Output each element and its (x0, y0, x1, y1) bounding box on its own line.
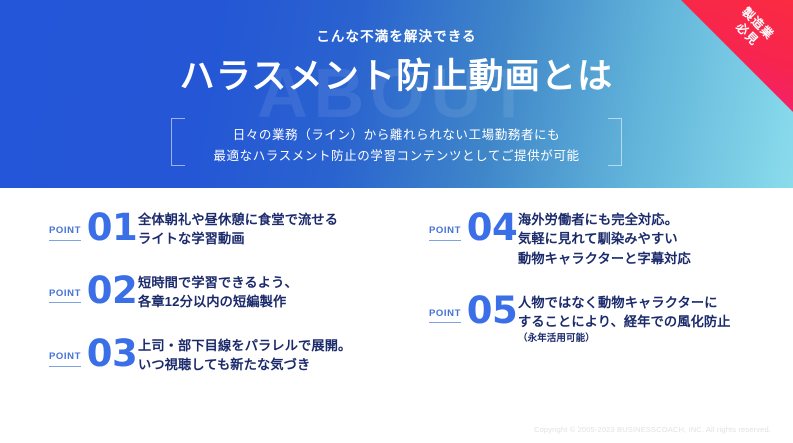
footer: Copyright © 2005-2023 BUSINESSCOACH, INC… (0, 419, 793, 437)
point-text-line: 気軽に見れて馴染みやすい (518, 229, 774, 248)
hero-subtitle-line-2: 最適なハラスメント防止の学習コンテンツとしてご提供が可能 (213, 146, 579, 168)
point-number-01: 01 (86, 207, 138, 246)
point-label-03: POINT (44, 333, 86, 367)
point-note: （永年活用可能） (518, 332, 774, 345)
hero-subtitle-line-1: 日々の業務（ライン）から離れられない工場勤務者にも (213, 125, 579, 147)
point-number-02: 02 (86, 270, 138, 309)
point-text-line: いつ視聴しても新たな気づき (138, 355, 394, 374)
point-label-text: POINT (429, 309, 461, 324)
point-label-text: POINT (429, 226, 461, 241)
point-number-04: 04 (466, 207, 518, 246)
points-column-left: POINT 01 全体朝礼や昼休憩に食堂で流せる ライトな学習動画 POINT … (44, 207, 394, 375)
point-label-01: POINT (44, 207, 86, 241)
point-label-text: POINT (49, 226, 81, 241)
page-title: ハラスメント防止動画とは (0, 57, 793, 96)
point-number-03: 03 (86, 333, 138, 372)
point-text-line: 全体朝礼や昼休憩に食堂で流せる (138, 210, 394, 229)
point-label-text: POINT (49, 352, 81, 367)
points-column-right: POINT 04 海外労働者にも完全対応。 気軽に見れて馴染みやすい 動物キャラ… (424, 207, 774, 346)
point-label-text: POINT (49, 289, 81, 304)
hero-eyebrow: こんな不満を解決できる (0, 30, 793, 44)
point-body-05: 人物ではなく動物キャラクターに することにより、経年での風化防止 （永年活用可能… (518, 290, 774, 346)
point-label-05: POINT (424, 290, 466, 324)
point-body-01: 全体朝礼や昼休憩に食堂で流せる ライトな学習動画 (138, 207, 394, 249)
point-number-05: 05 (466, 290, 518, 329)
point-text-line: 人物ではなく動物キャラクターに (518, 293, 774, 312)
point-item-05: POINT 05 人物ではなく動物キャラクターに することにより、経年での風化防… (424, 290, 774, 346)
point-body-02: 短時間で学習できるよう、 各章12分以内の短編製作 (138, 270, 394, 312)
point-label-04: POINT (424, 207, 466, 241)
point-text-line: することにより、経年での風化防止 (518, 312, 774, 331)
point-text-line: 動物キャラクターと字幕対応 (518, 249, 774, 268)
point-text-line: 各章12分以内の短編製作 (138, 292, 394, 311)
hero-banner: ABOUT こんな不満を解決できる ハラスメント防止動画とは 日々の業務（ライン… (0, 0, 793, 188)
point-text-line: ライトな学習動画 (138, 229, 394, 248)
copyright-text: Copyright © 2005-2023 BUSINESSCOACH, INC… (534, 425, 771, 434)
point-text-line: 上司・部下目線をパラレルで展開。 (138, 336, 394, 355)
point-body-03: 上司・部下目線をパラレルで展開。 いつ視聴しても新たな気づき (138, 333, 394, 375)
point-item-02: POINT 02 短時間で学習できるよう、 各章12分以内の短編製作 (44, 270, 394, 312)
points-section: POINT 01 全体朝礼や昼休憩に食堂で流せる ライトな学習動画 POINT … (0, 188, 793, 420)
point-label-02: POINT (44, 270, 86, 304)
point-body-04: 海外労働者にも完全対応。 気軽に見れて馴染みやすい 動物キャラクターと字幕対応 (518, 207, 774, 268)
hero-subtitle-frame: 日々の業務（ライン）から離れられない工場勤務者にも 最適なハラスメント防止の学習… (157, 118, 635, 173)
hero-content: こんな不満を解決できる ハラスメント防止動画とは 日々の業務（ライン）から離れら… (0, 0, 793, 173)
point-text-line: 短時間で学習できるよう、 (138, 273, 394, 292)
point-item-01: POINT 01 全体朝礼や昼休憩に食堂で流せる ライトな学習動画 (44, 207, 394, 249)
bracket-left-icon (171, 118, 185, 166)
point-item-04: POINT 04 海外労働者にも完全対応。 気軽に見れて馴染みやすい 動物キャラ… (424, 207, 774, 268)
bracket-right-icon (608, 118, 622, 166)
point-text-line: 海外労働者にも完全対応。 (518, 210, 774, 229)
point-item-03: POINT 03 上司・部下目線をパラレルで展開。 いつ視聴しても新たな気づき (44, 333, 394, 375)
corner-ribbon-badge: 製造業 必見 (681, 0, 793, 112)
